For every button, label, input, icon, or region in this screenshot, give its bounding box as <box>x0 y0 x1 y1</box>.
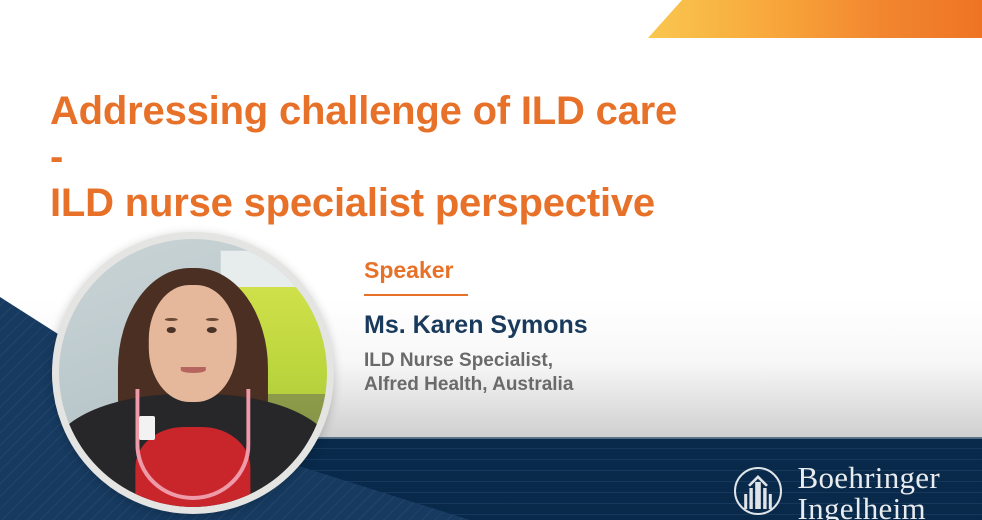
speaker-label: Speaker <box>364 256 588 284</box>
photo-eyebrow-left <box>165 318 178 322</box>
photo-stethoscope <box>135 389 250 500</box>
brand-logo-text: Boehringer Ingelheim <box>798 462 940 520</box>
photo-eye-left <box>166 327 176 333</box>
speaker-name: Ms. Karen Symons <box>364 310 588 340</box>
brand-logo: Boehringer Ingelheim <box>730 462 940 520</box>
speaker-affiliation-line-2: Alfred Health, Australia <box>364 373 588 397</box>
presentation-slide: Boehringer Ingelheim Addressing challeng… <box>0 0 982 520</box>
speaker-photo <box>59 239 327 507</box>
brand-logo-line-2: Ingelheim <box>798 493 940 520</box>
brand-logo-line-1: Boehringer <box>798 462 940 493</box>
speaker-divider <box>364 294 468 296</box>
speaker-info-block: Speaker Ms. Karen Symons ILD Nurse Speci… <box>364 256 588 397</box>
boehringer-ingelheim-emblem-icon <box>730 463 786 520</box>
slide-title: Addressing challenge of ILD care - ILD n… <box>50 88 690 226</box>
photo-id-badge <box>139 416 155 440</box>
photo-eye-right <box>207 327 217 333</box>
top-accent-banner <box>648 0 982 38</box>
slide-title-line-1: Addressing challenge of ILD care - <box>50 88 690 180</box>
speaker-affiliation-line-1: ILD Nurse Specialist, <box>364 349 588 373</box>
slide-title-line-2: ILD nurse specialist perspective <box>50 180 690 226</box>
photo-mouth <box>181 367 206 373</box>
speaker-portrait <box>52 232 334 514</box>
photo-face <box>149 285 237 403</box>
speaker-affiliation: ILD Nurse Specialist, Alfred Health, Aus… <box>364 349 588 397</box>
photo-eyebrow-right <box>205 318 218 322</box>
